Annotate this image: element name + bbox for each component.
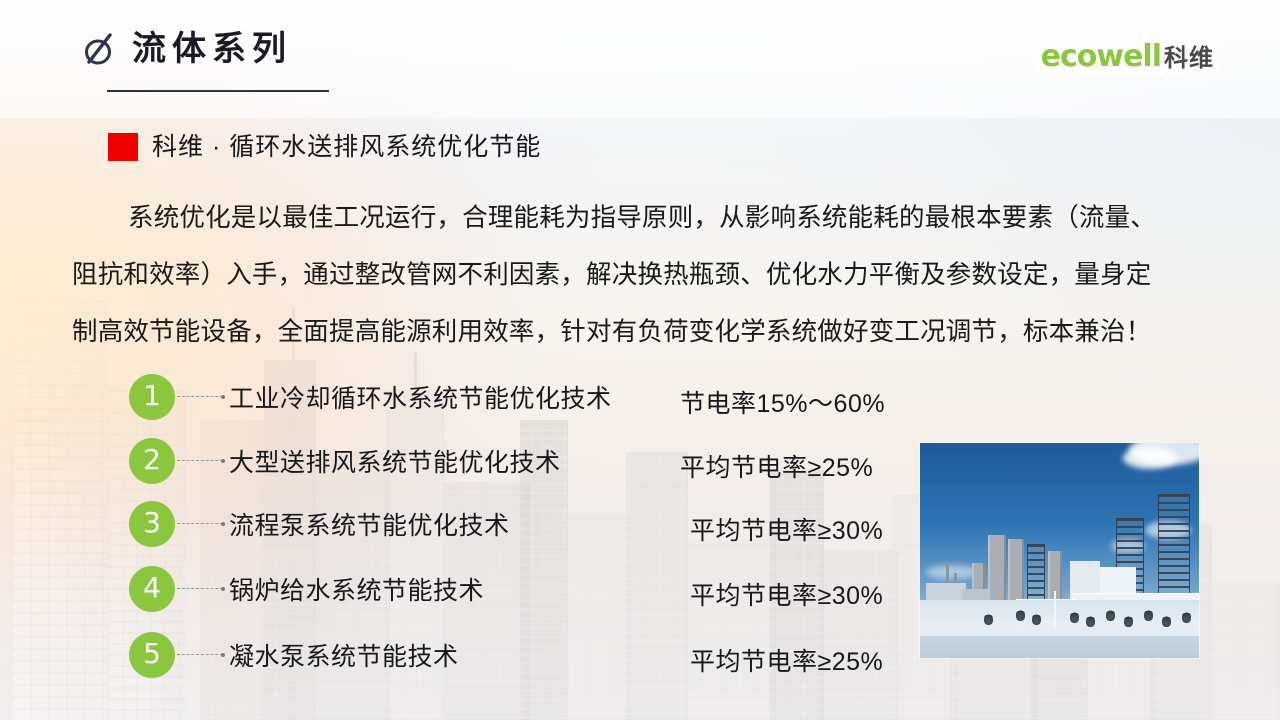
section-heading: 科维 · 循环水送排风系统优化节能 (108, 133, 541, 161)
brand-logo: ecowell 科维 (1037, 40, 1218, 74)
list-item-value: 平均节电率≥30% (690, 511, 883, 547)
list-item[interactable]: 2 大型送排风系统节能优化技术 (129, 438, 561, 484)
list-item-value: 平均节电率≥25% (690, 642, 883, 678)
connector-line-icon (177, 523, 223, 525)
paragraph-line: 阻抗和效率）入手，通过整改管网不利因素，解决换热瓶颈、优化水力平衡及参数设定，量… (72, 247, 1220, 304)
connector-line-icon (177, 588, 223, 590)
list-number-badge: 2 (129, 438, 175, 484)
list-number-badge: 5 (129, 632, 175, 678)
list-item[interactable]: 5 凝水泵系统节能技术 (129, 632, 459, 678)
paragraph-line: 制高效节能设备，全面提高能源利用效率，针对有负荷变化学系统做好变工况调节，标本兼… (72, 304, 1220, 361)
list-item[interactable]: 3 流程泵系统节能优化技术 (129, 501, 510, 547)
list-item[interactable]: 1 工业冷却循环水系统节能优化技术 (129, 374, 612, 420)
connector-line-icon (177, 396, 223, 398)
brand-name-en: ecowell (1041, 42, 1161, 72)
list-item-label: 锅炉给水系统节能技术 (229, 571, 484, 607)
list-item-value: 节电率15%～60% (680, 384, 885, 420)
brand-name-cn: 科维 (1164, 47, 1214, 71)
list-item-label: 工业冷却循环水系统节能优化技术 (229, 379, 612, 415)
title-row: 流体系列 (84, 32, 292, 66)
list-item-label: 流程泵系统节能优化技术 (229, 506, 510, 542)
connector-line-icon (177, 654, 223, 656)
list-number-badge: 4 (129, 566, 175, 612)
circle-slash-icon (84, 32, 114, 66)
page-title: 流体系列 (132, 32, 292, 66)
paragraph-line: 系统优化是以最佳工况运行，合理能耗为指导原则，从影响系统能耗的最根本要素（流量、 (72, 190, 1220, 247)
slide-canvas: 流体系列 ecowell 科维 科维 · 循环水送排风系统优化节能 系统优化是以… (0, 0, 1280, 720)
list-number-badge: 1 (129, 374, 175, 420)
list-item[interactable]: 4 锅炉给水系统节能技术 (129, 566, 484, 612)
list-number-badge: 3 (129, 501, 175, 547)
body-paragraph: 系统优化是以最佳工况运行，合理能耗为指导原则，从影响系统能耗的最根本要素（流量、… (72, 190, 1220, 361)
section-title: 科维 · 循环水送排风系统优化节能 (152, 135, 541, 160)
list-item-value: 平均节电率≥25% (680, 448, 873, 484)
industrial-plant-photo (920, 443, 1199, 658)
title-underline (107, 90, 329, 92)
list-item-label: 凝水泵系统节能技术 (229, 637, 459, 673)
list-item-value: 平均节电率≥30% (690, 576, 883, 612)
connector-line-icon (177, 460, 223, 462)
slide-header: 流体系列 ecowell 科维 (0, 0, 1280, 120)
red-square-bullet-icon (108, 133, 138, 161)
photo-foreground (920, 636, 1199, 658)
list-item-label: 大型送排风系统节能优化技术 (229, 443, 561, 479)
